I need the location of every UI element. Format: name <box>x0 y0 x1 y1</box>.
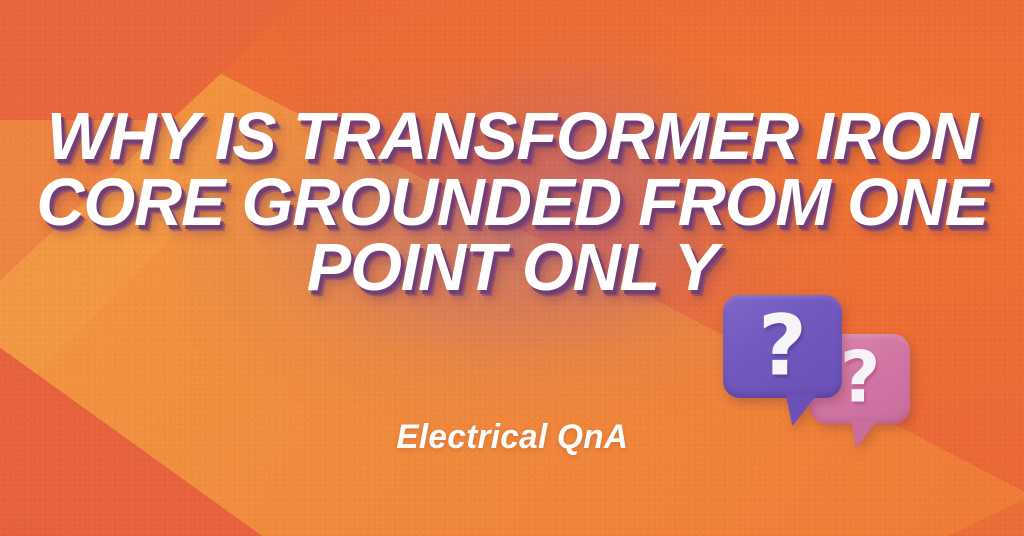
question-mark-icon: ? <box>758 303 807 387</box>
question-bubbles-graphic: ? ? <box>710 272 950 467</box>
subtitle-text: Electrical QnA <box>396 418 628 457</box>
banner-canvas: WHY IS TRANSFORMER IRON CORE GROUNDED FR… <box>0 0 1024 536</box>
pink-bubble-tail <box>843 420 877 448</box>
question-mark-icon: ? <box>840 343 881 413</box>
headline-line-2: CORE GROUNDED FROM ONE <box>36 170 987 236</box>
purple-question-bubble: ? <box>723 295 842 398</box>
headline-line-1: WHY IS TRANSFORMER IRON <box>36 104 987 170</box>
